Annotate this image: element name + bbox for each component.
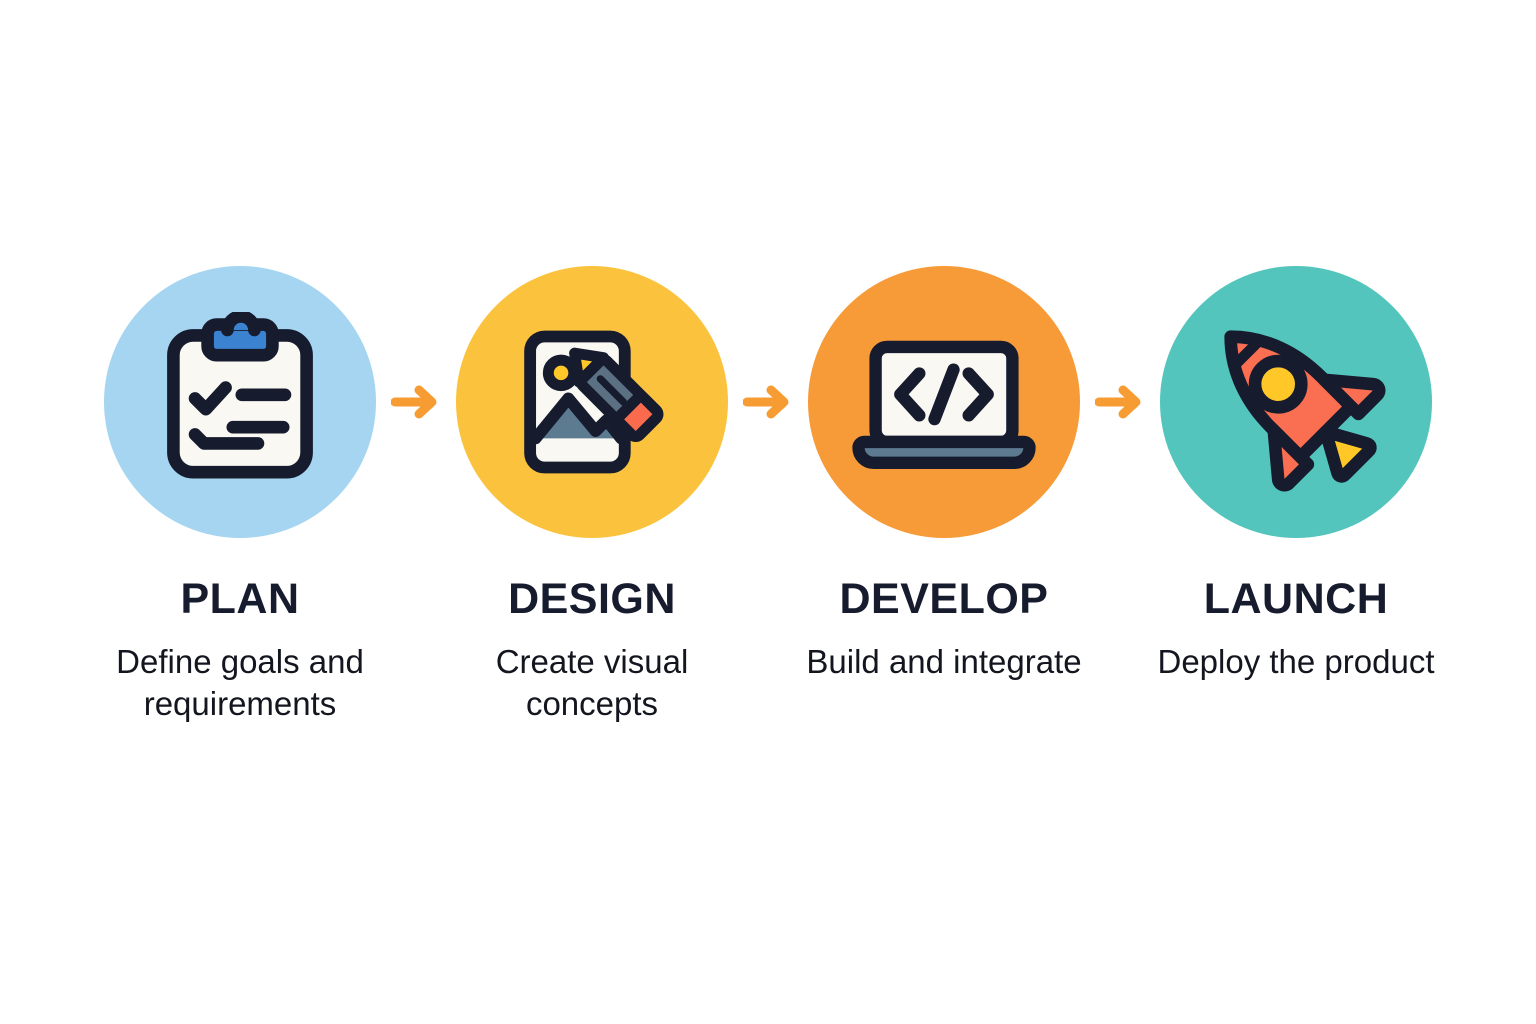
step-launch[interactable]: LAUNCH Deploy the product bbox=[1141, 266, 1451, 683]
step-icon-badge-develop bbox=[808, 266, 1080, 538]
arrow-right-icon bbox=[743, 381, 793, 423]
image-with-pencil-icon bbox=[501, 311, 683, 493]
step-develop[interactable]: DEVELOP Build and integrate bbox=[789, 266, 1099, 683]
step-title-design: DESIGN bbox=[508, 578, 676, 621]
step-desc-develop: Build and integrate bbox=[806, 641, 1081, 683]
connector-plan-design bbox=[391, 266, 441, 538]
diagram-canvas: PLAN Define goals and requirements bbox=[0, 0, 1536, 1024]
step-title-launch: LAUNCH bbox=[1204, 578, 1389, 621]
step-desc-plan: Define goals and requirements bbox=[85, 641, 395, 724]
laptop-code-icon bbox=[849, 307, 1039, 497]
step-design[interactable]: DESIGN Create visual concepts bbox=[437, 266, 747, 724]
step-desc-launch: Deploy the product bbox=[1157, 641, 1434, 683]
step-icon-badge-launch bbox=[1160, 266, 1432, 538]
process-flow: PLAN Define goals and requirements bbox=[0, 266, 1536, 806]
clipboard-checklist-icon bbox=[150, 312, 330, 492]
arrow-right-icon bbox=[391, 381, 441, 423]
step-plan[interactable]: PLAN Define goals and requirements bbox=[85, 266, 395, 724]
step-icon-badge-plan bbox=[104, 266, 376, 538]
connector-design-develop bbox=[743, 266, 793, 538]
step-title-plan: PLAN bbox=[180, 578, 299, 621]
step-desc-design: Create visual concepts bbox=[437, 641, 747, 724]
connector-develop-launch bbox=[1095, 266, 1145, 538]
arrow-right-icon bbox=[1095, 381, 1145, 423]
step-icon-badge-design bbox=[456, 266, 728, 538]
step-title-develop: DEVELOP bbox=[840, 578, 1049, 621]
rocket-icon bbox=[1191, 297, 1401, 507]
